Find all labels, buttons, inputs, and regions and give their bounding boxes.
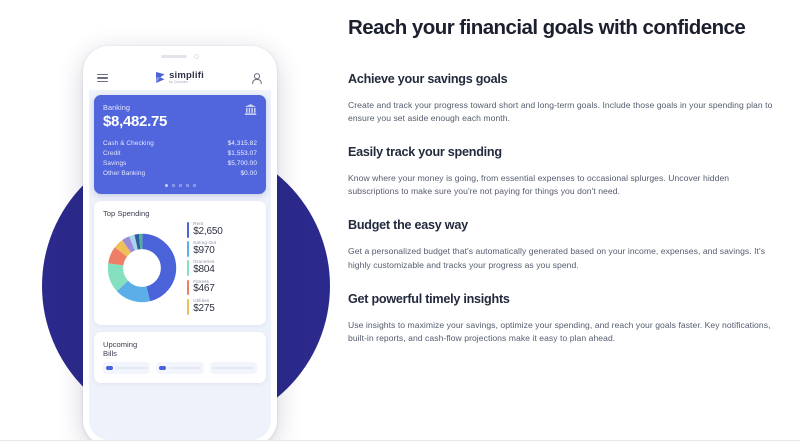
carousel-pagination-dots[interactable] — [103, 184, 257, 188]
feature-block-budget: Budget the easy way Get a personalized b… — [348, 218, 778, 271]
pagination-dot[interactable] — [165, 184, 168, 187]
legend-color-swatch — [187, 241, 189, 257]
account-label: Credit — [103, 150, 121, 157]
upcoming-bills-title: Upcoming Bills — [103, 340, 151, 359]
pagination-dot[interactable] — [179, 184, 182, 187]
table-row: Savings $5,700.00 — [103, 158, 257, 168]
account-amount: $4,315.82 — [228, 140, 257, 147]
pagination-dot[interactable] — [172, 184, 175, 187]
list-item: Rent $2,650 — [187, 222, 257, 238]
legend-value: $804 — [193, 265, 214, 276]
account-amount: $0.00 — [241, 170, 258, 177]
phone-mockup: simplifi by Quicken — [83, 46, 277, 441]
phone-camera-icon — [194, 54, 199, 59]
banking-card-header: Banking $8,482.75 — [103, 103, 257, 130]
list-item: Utilities $275 — [187, 299, 257, 315]
feature-title: Budget the easy way — [348, 218, 778, 232]
legend-color-swatch — [187, 260, 189, 276]
list-item: Eating Out $970 — [187, 241, 257, 257]
page-title: Reach your financial goals with confiden… — [348, 16, 778, 40]
top-spending-title: Top Spending — [103, 209, 257, 218]
legend-color-swatch — [187, 222, 189, 238]
account-label: Cash & Checking — [103, 140, 154, 147]
list-item[interactable] — [103, 362, 150, 374]
spending-donut-chart — [103, 233, 181, 303]
legend-color-swatch — [187, 299, 189, 315]
phone-speaker-icon — [161, 55, 187, 58]
feature-title: Get powerful timely insights — [348, 292, 778, 306]
banking-label: Banking — [103, 103, 167, 112]
feature-body: Create and track your progress toward sh… — [348, 99, 773, 125]
feature-block-savings-goals: Achieve your savings goals Create and tr… — [348, 72, 778, 125]
feature-copy-column: Reach your financial goals with confiden… — [348, 0, 778, 441]
simplifi-logo: simplifi by Quicken — [155, 71, 204, 84]
list-item: Fitness $467 — [187, 280, 257, 296]
bill-placeholder-line — [213, 367, 254, 369]
feature-title: Easily track your spending — [348, 145, 778, 159]
app-bar: simplifi by Quicken — [89, 66, 271, 90]
legend-color-swatch — [187, 280, 189, 296]
bank-building-icon — [244, 103, 257, 121]
pagination-dot[interactable] — [186, 184, 189, 187]
list-item: Groceries $804 — [187, 260, 257, 276]
brand-text-block: simplifi by Quicken — [169, 71, 204, 84]
upcoming-bills-card[interactable]: Upcoming Bills — [94, 332, 266, 384]
legend-value: $467 — [193, 284, 214, 295]
upcoming-bills-list — [103, 362, 257, 374]
bill-placeholder-line — [116, 367, 147, 369]
person-avatar-icon[interactable] — [251, 72, 263, 85]
hero-illustration: simplifi by Quicken — [0, 0, 330, 441]
simplifi-flag-icon — [155, 71, 166, 84]
table-row: Credit $1,553.07 — [103, 148, 257, 158]
phone-screen: simplifi by Quicken — [89, 66, 271, 440]
landing-page: simplifi by Quicken — [0, 0, 800, 441]
feature-body: Know where your money is going, from ess… — [348, 172, 773, 198]
feature-body: Get a personalized budget that's automat… — [348, 245, 773, 271]
brand-tagline: by Quicken — [169, 81, 188, 84]
table-row: Other Banking $0.00 — [103, 169, 257, 179]
list-item[interactable] — [210, 362, 257, 374]
banking-account-rows: Cash & Checking $4,315.82 Credit $1,553.… — [103, 138, 257, 179]
legend-value: $275 — [193, 304, 214, 315]
phone-notch — [83, 46, 277, 66]
account-amount: $1,553.07 — [228, 150, 257, 157]
bill-icon — [106, 366, 113, 370]
banking-total-amount: $8,482.75 — [103, 113, 167, 130]
legend-value: $2,650 — [193, 227, 222, 238]
banking-summary-card[interactable]: Banking $8,482.75 — [94, 95, 266, 194]
bill-icon — [159, 366, 166, 370]
table-row: Cash & Checking $4,315.82 — [103, 138, 257, 148]
account-label: Other Banking — [103, 170, 145, 177]
top-spending-card[interactable]: Top Spending Rent $2,650 — [94, 201, 266, 325]
feature-block-track-spending: Easily track your spending Know where yo… — [348, 145, 778, 198]
feature-body: Use insights to maximize your savings, o… — [348, 319, 773, 345]
legend-value: $970 — [193, 246, 216, 257]
screen-content: Banking $8,482.75 — [89, 90, 271, 388]
donut-chart-svg — [107, 233, 177, 303]
pagination-dot[interactable] — [193, 184, 196, 187]
feature-title: Achieve your savings goals — [348, 72, 778, 86]
account-label: Savings — [103, 160, 126, 167]
banking-card-titles: Banking $8,482.75 — [103, 103, 167, 130]
account-amount: $5,700.00 — [228, 160, 257, 167]
feature-block-insights: Get powerful timely insights Use insight… — [348, 292, 778, 345]
spending-legend: Rent $2,650 Eating Out $970 — [185, 222, 257, 315]
hamburger-menu-icon[interactable] — [97, 74, 108, 83]
top-spending-body: Rent $2,650 Eating Out $970 — [103, 222, 257, 315]
list-item[interactable] — [156, 362, 203, 374]
bill-placeholder-line — [169, 367, 200, 369]
